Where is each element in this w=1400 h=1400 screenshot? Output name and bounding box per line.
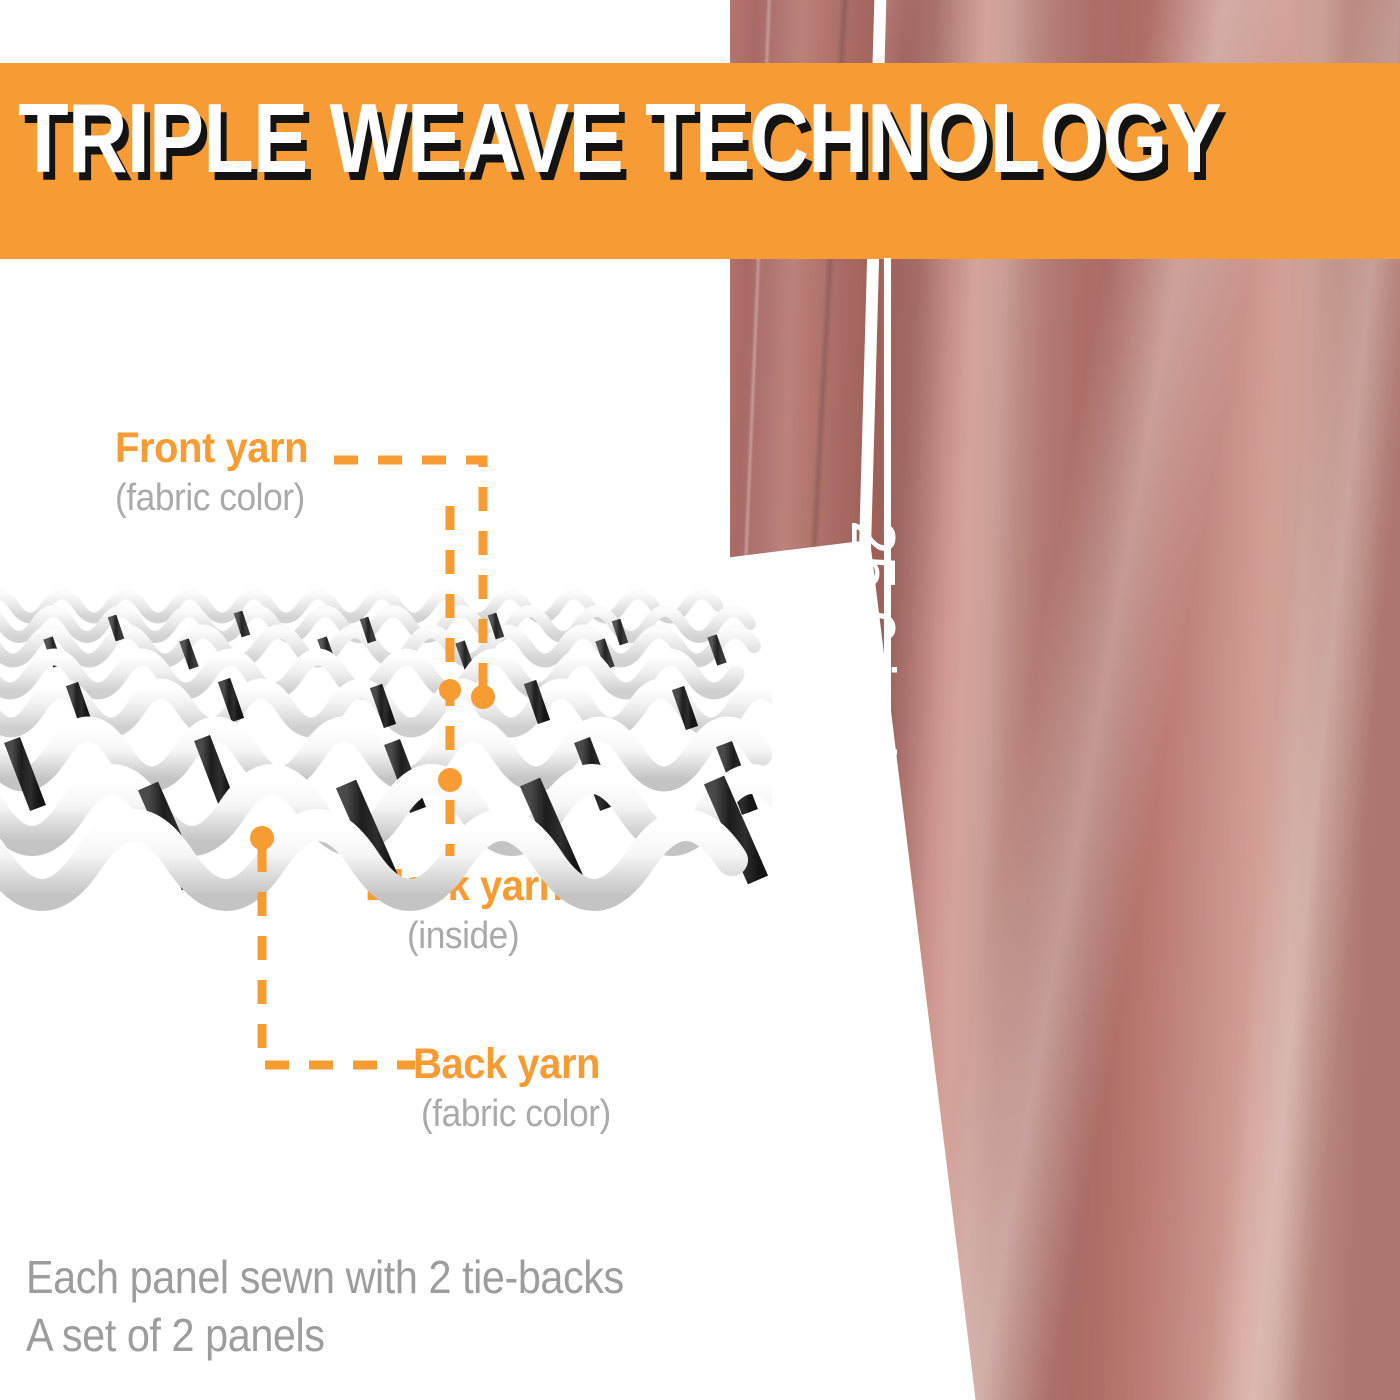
callout-black-yarn-subtext: (inside): [407, 915, 566, 958]
headline-banner: TRIPLE WEAVE TECHNOLOGY: [0, 63, 1400, 259]
footnote-line-2: A set of 2 panels: [26, 1306, 624, 1364]
footnote-line-1: Each panel sewn with 2 tie-backs: [26, 1248, 624, 1306]
triple-weave-illustration: [0, 488, 772, 918]
callout-back-yarn-heading: Back yarn: [413, 1040, 610, 1089]
callout-back-yarn-subtext: (fabric color): [421, 1093, 611, 1136]
measurement-label: 25.6 inch (65 cm): [837, 520, 908, 1016]
headline-text: TRIPLE WEAVE TECHNOLOGY: [18, 85, 1221, 191]
footnote-block: Each panel sewn with 2 tie-backs A set o…: [26, 1248, 690, 1364]
infographic-canvas: TRIPLE WEAVE TECHNOLOGY 25.6 inch (65 cm…: [0, 0, 1400, 1400]
photo-bottom-left-mask: [730, 920, 830, 1400]
callout-front-yarn-heading: Front yarn: [115, 424, 308, 473]
callout-back-yarn: Back yarn (fabric color): [413, 1040, 625, 1136]
